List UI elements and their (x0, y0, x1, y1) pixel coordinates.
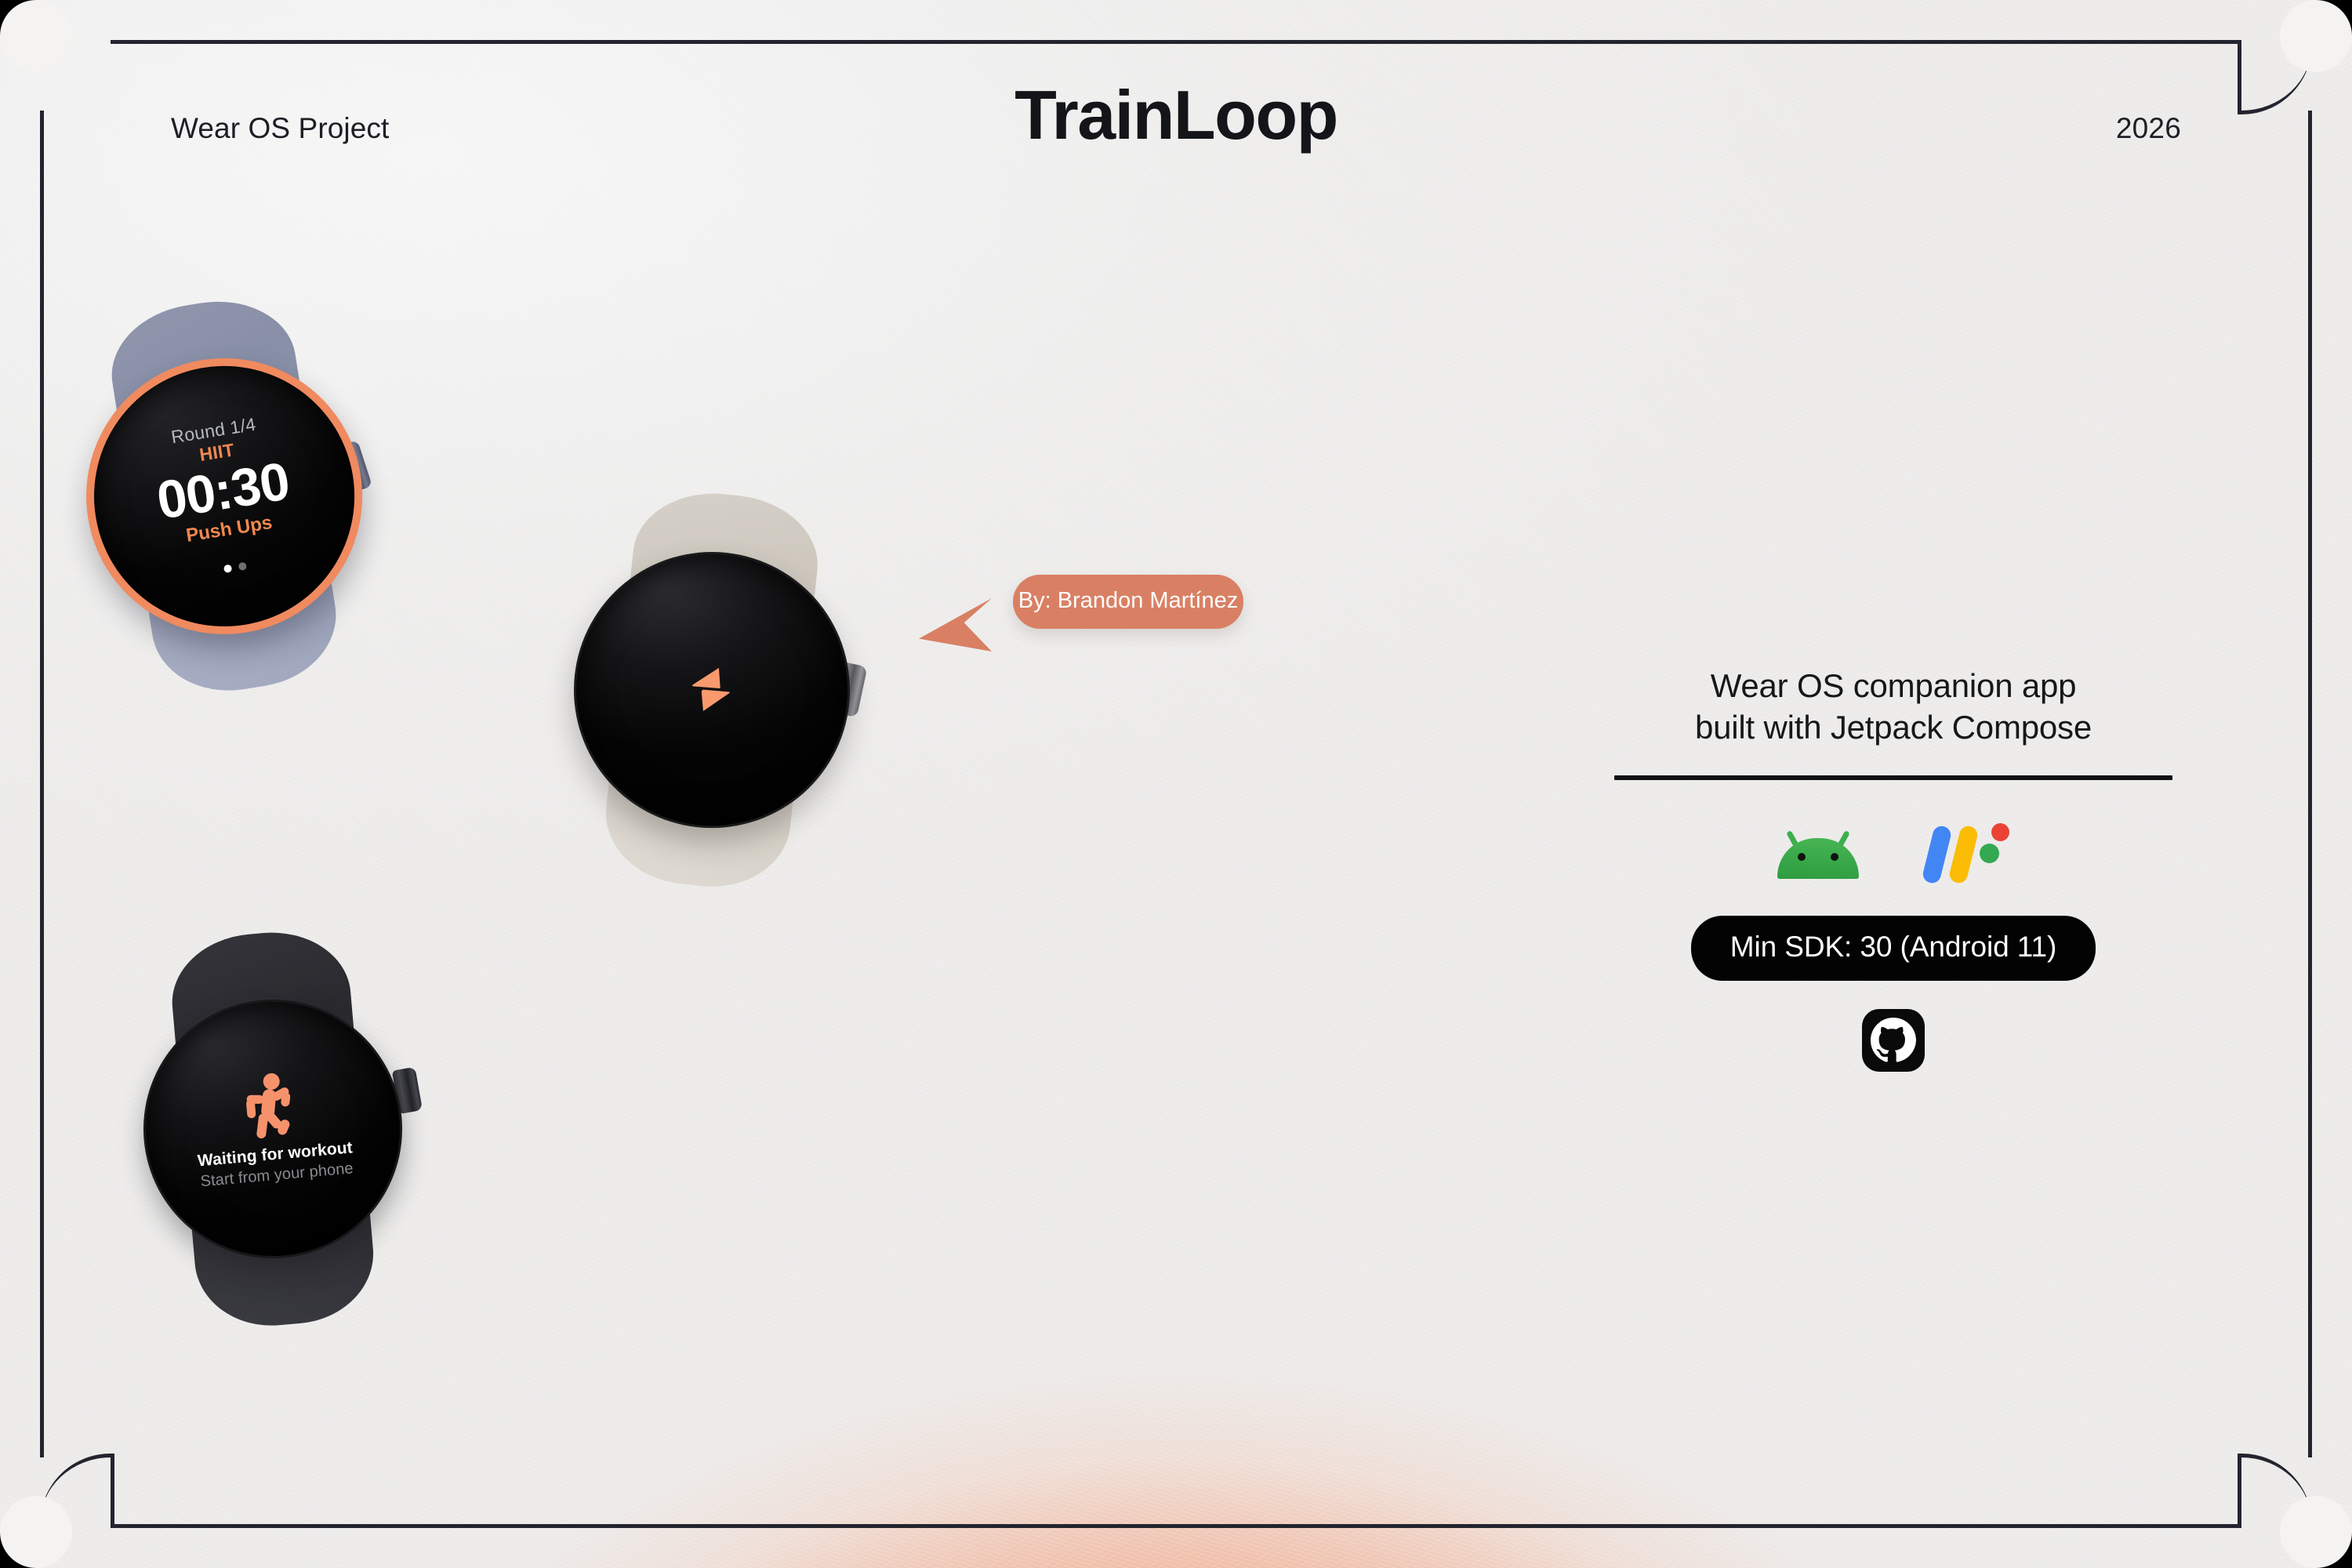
panel-headline-line-1: Wear OS companion app (1607, 665, 2180, 706)
panel-headline: Wear OS companion app built with Jetpack… (1607, 665, 2180, 749)
panel-divider (1614, 775, 2172, 780)
timer-value: 00:30 (154, 454, 293, 528)
runner-forearm-back (246, 1099, 256, 1119)
wear-os-dot-red (1991, 823, 2009, 841)
github-icon[interactable] (1862, 1009, 1925, 1072)
info-panel: Wear OS companion app built with Jetpack… (1607, 665, 2180, 1072)
author-callout: By: Brandon Martínez (1013, 575, 1243, 629)
android-eye-left (1798, 853, 1806, 861)
poster-canvas: Wear OS Project TrainLoop 2026 Round 1/4… (0, 0, 2352, 1568)
wear-os-logo-icon (1926, 823, 2009, 886)
watch-mockup-waiting: Waiting for workout Start from your phon… (100, 920, 446, 1338)
page-indicator-dots (223, 562, 247, 573)
page-corner-bottom-right (2316, 1532, 2352, 1568)
status-badge: Min SDK: 30 (Android 11) (1691, 916, 2096, 981)
running-person-icon (244, 1072, 298, 1140)
wear-os-bar-yellow (1947, 824, 1979, 884)
panel-headline-line-2: built with Jetpack Compose (1607, 706, 2180, 748)
tech-logo-row (1607, 823, 2180, 886)
android-eye-right (1831, 853, 1838, 861)
year-label: 2026 (2116, 112, 2181, 145)
android-robot-icon (1777, 830, 1859, 879)
page-corner-top-right (2316, 0, 2352, 36)
page-corner-bottom-left (0, 1532, 36, 1568)
runner-head (263, 1073, 281, 1091)
android-head-dome (1777, 838, 1859, 879)
trainloop-bolt-icon (688, 665, 736, 715)
page-dot (238, 562, 247, 571)
page-dot-active (223, 564, 232, 573)
page-corner-top-left (0, 0, 36, 36)
watch-mockup-hiit-timer: Round 1/4 HIIT 00:30 Push Ups (33, 279, 415, 713)
watch-mockup-app-logo (529, 478, 894, 902)
wear-os-bar-blue (1921, 824, 1952, 884)
bolt-lower-triangle (699, 689, 731, 714)
page-title: TrainLoop (0, 75, 2352, 155)
wear-os-dot-green (1980, 844, 1999, 863)
bolt-upper-triangle (691, 665, 723, 689)
runner-forearm-front (281, 1092, 291, 1107)
